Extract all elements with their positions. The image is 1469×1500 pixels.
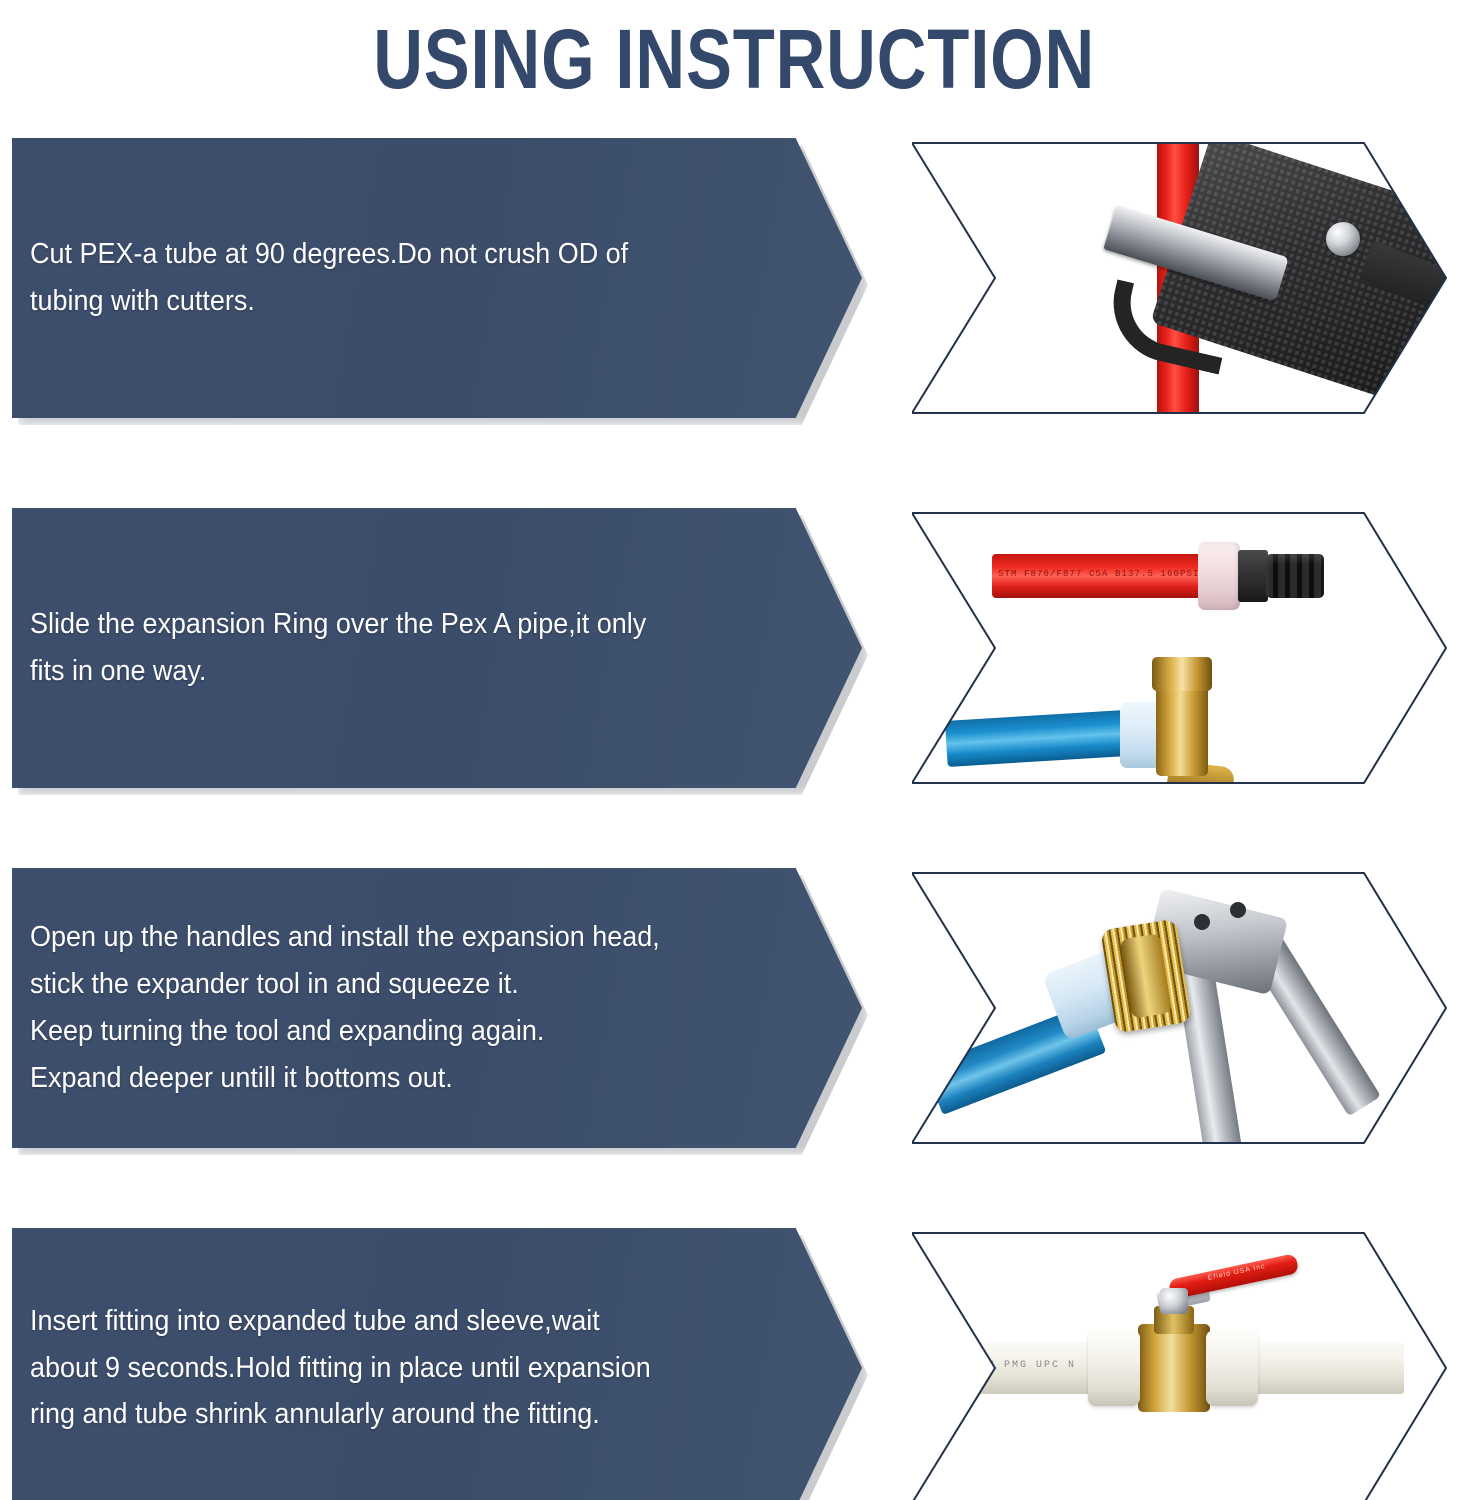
step-text-line: Insert fitting into expanded tube and sl… [30, 1298, 662, 1345]
step-text: Open up the handles and install the expa… [30, 868, 662, 1148]
step-text-line: ring and tube shrink annularly around th… [30, 1391, 662, 1438]
step-text-line: Cut PEX-a tube at 90 degrees.Do not crus… [30, 231, 662, 278]
step-text: Cut PEX-a tube at 90 degrees.Do not crus… [30, 138, 662, 418]
page-title-text: USING INSTRUCTION [374, 17, 1096, 101]
step-text-line: stick the expander tool in and squeeze i… [30, 961, 662, 1008]
photo-frame-outline [912, 512, 1447, 784]
instruction-step-3: Open up the handles and install the expa… [0, 868, 1469, 1153]
step-text-line: Expand deeper untill it bottoms out. [30, 1055, 662, 1102]
instruction-step-4: Insert fitting into expanded tube and sl… [0, 1228, 1469, 1500]
step-text-line: tubing with cutters. [30, 278, 662, 325]
step-text-line: Slide the expansion Ring over the Pex A … [30, 601, 662, 648]
step-text-line: fits in one way. [30, 648, 662, 695]
step-text-line: about 9 seconds.Hold fitting in place un… [30, 1345, 662, 1392]
instruction-poster: USING INSTRUCTION Cut PEX-a tube at 90 d… [0, 0, 1469, 1500]
step-text-line: Keep turning the tool and expanding agai… [30, 1008, 662, 1055]
photo-frame-outline [912, 142, 1447, 414]
photo-frame-outline [912, 1232, 1447, 1500]
page-title: USING INSTRUCTION [0, 0, 1469, 118]
instruction-step-2: Slide the expansion Ring over the Pex A … [0, 508, 1469, 793]
step-photo-frame: STM F876/F877 CSA B137.5 160PSI [912, 512, 1447, 784]
instruction-step-1: Cut PEX-a tube at 90 degrees.Do not crus… [0, 138, 1469, 423]
step-photo-frame: C-ES PMG UPC N Efield USA Inc [912, 1232, 1447, 1500]
step-photo-frame [912, 872, 1447, 1144]
step-text-line: Open up the handles and install the expa… [30, 914, 662, 961]
step-photo-frame [912, 142, 1447, 414]
photo-frame-outline [912, 872, 1447, 1144]
step-text: Slide the expansion Ring over the Pex A … [30, 508, 662, 788]
step-text: Insert fitting into expanded tube and sl… [30, 1228, 662, 1500]
